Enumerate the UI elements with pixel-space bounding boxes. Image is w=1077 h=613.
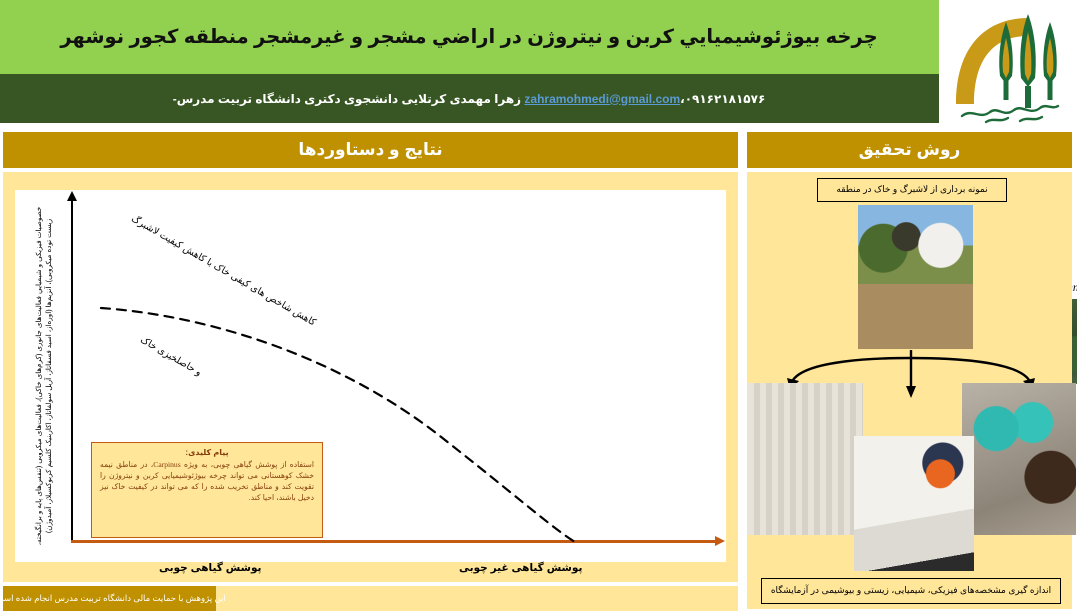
funding-note-text: این پژوهش با حمایت مالی دانشگاه تربیت مد…: [0, 593, 227, 604]
lab-bench-photo: [749, 383, 864, 535]
author-phone: ،۰۹۱۶۲۱۸۱۵۷۶: [681, 92, 766, 106]
chart-x-axis: [72, 540, 717, 543]
author-band: ،۰۹۱۶۲۱۸۱۵۷۶zahramohmedi@gmail.com زهرا …: [0, 74, 940, 123]
key-message-scientific-name: Carpinus: [154, 459, 181, 470]
y-axis-line-2: زیست توده میکروبی)، آنزیم‌ها (اوره‌از، ا…: [45, 190, 55, 562]
key-message-box: پیام کلیدی: استفاده از پوشش گیاهی چوبی، …: [92, 442, 324, 538]
arrow-head-center: [907, 386, 917, 398]
field-sampling-photo: [859, 205, 974, 349]
university-logo: [940, 0, 1077, 128]
lab-caption-text: اندازه گیری مشخصه‌های فیزیکی، شیمیایی، ز…: [768, 585, 1056, 597]
key-message-title: پیام کلیدی:: [101, 448, 315, 457]
tarbiat-modares-logo-icon: [947, 4, 1071, 124]
results-panel: خصوصیات فیزیکی و شیمیایي فعالیت‌های جانو…: [4, 172, 739, 582]
lab-caption-box: اندازه گیری مشخصه‌های فیزیکی، شیمیایی، ز…: [762, 578, 1062, 604]
x-axis-label-woody: پوشش گیاهی چوبی: [160, 562, 262, 574]
section-header-method-label: روش تحقیق: [860, 140, 962, 160]
poster-title-band: چرخه بیوژئوشیمیایي کربن و نیتروژن در ارا…: [0, 0, 940, 74]
soil-samples-photo: [963, 383, 1077, 535]
chart-y-axis: [72, 200, 74, 542]
key-message-part1: استفاده از پوشش گیاهی چوبی، به ویژه: [182, 460, 315, 469]
soil-quality-chart: خصوصیات فیزیکی و شیمیایي فعالیت‌های جانو…: [16, 190, 727, 562]
kjeldahl-analyzer-photo: [855, 436, 975, 571]
y-axis-line-1: خصوصیات فیزیکی و شیمیایي فعالیت‌های جانو…: [35, 190, 45, 562]
poster-root: چرخه بیوژئوشیمیایي کربن و نیتروژن در ارا…: [0, 0, 1077, 613]
page-title: چرخه بیوژئوشیمیایي کربن و نیتروژن در ارا…: [43, 25, 896, 49]
section-header-results: نتایج و دستاوردها: [4, 132, 739, 168]
funding-note-band: این پژوهش با حمایت مالی دانشگاه تربیت مد…: [4, 586, 217, 611]
key-message-body: استفاده از پوشش گیاهی چوبی، به ویژه Carp…: [101, 459, 315, 503]
section-header-results-label: نتایج و دستاوردها: [299, 140, 443, 160]
sampling-caption-text: نمونه برداری از لاشبرگ و خاک در منطقه: [833, 184, 992, 196]
curve-annotation-line-2: و حاصلخیزی خاک: [138, 334, 205, 381]
section-header-method: روش تحقیق: [748, 132, 1073, 168]
x-axis-label-nonwoody: پوشش گیاهی غیر چوبی: [460, 562, 583, 574]
footer-strip: [217, 586, 739, 611]
author-line: ،۰۹۱۶۲۱۸۱۵۷۶zahramohmedi@gmail.com زهرا …: [174, 92, 767, 106]
author-email-link[interactable]: zahramohmedi@gmail.com: [525, 92, 681, 106]
curve-annotation-line-1: کاهش شاخص های کیفی خاک با کاهش کیفیت لاش…: [129, 212, 319, 330]
chart-y-axis-label: خصوصیات فیزیکی و شیمیایي فعالیت‌های جانو…: [14, 0, 60, 190]
author-affiliation: زهرا مهمدی کرتلایی دانشجوی دکتری دانشگاه…: [174, 92, 522, 106]
sampling-caption-box: نمونه برداری از لاشبرگ و خاک در منطقه: [818, 178, 1008, 202]
